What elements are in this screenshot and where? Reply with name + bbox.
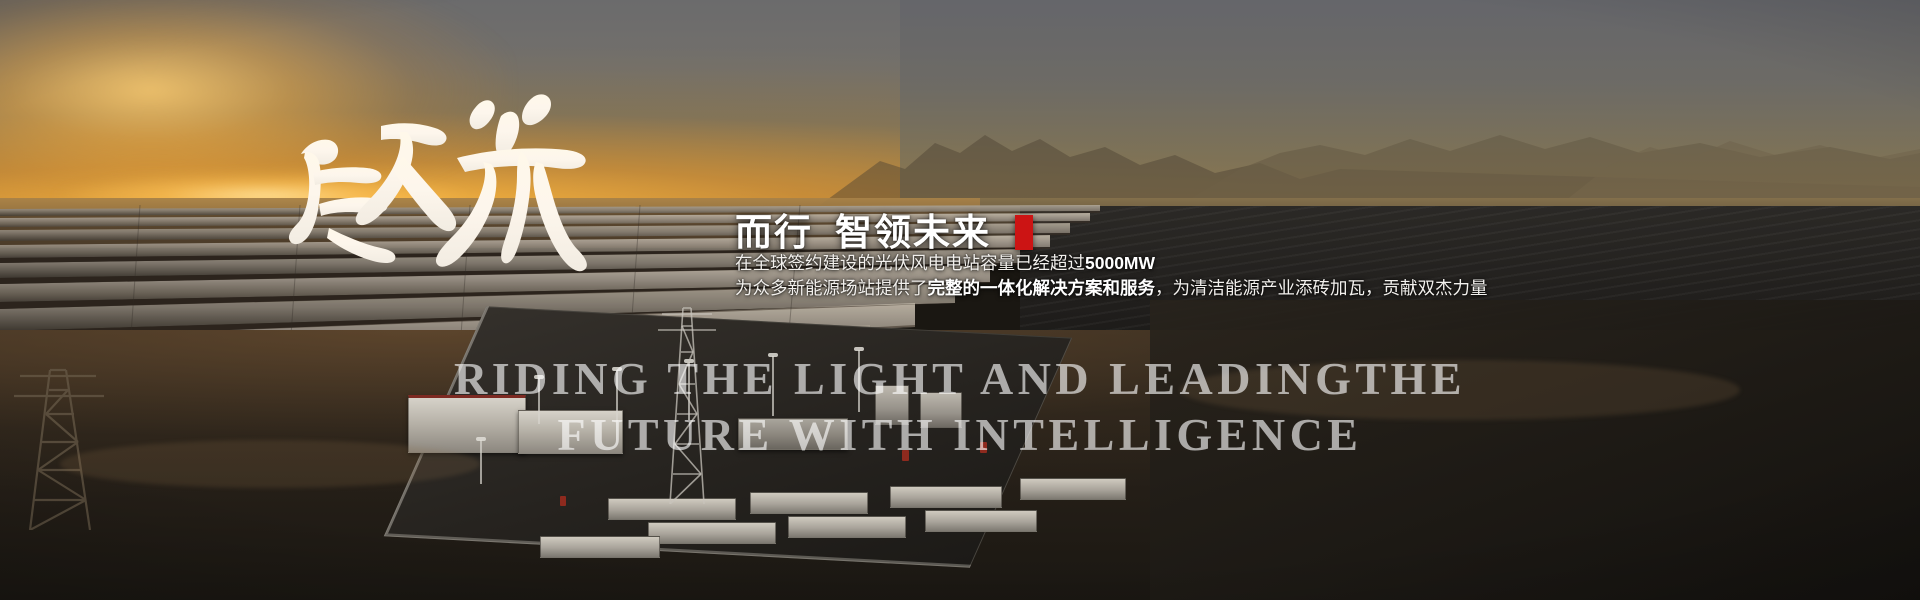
hero-banner: 而行 智领未来 在全球签约建设的光伏风电电站容量已经超过5000MW 为众多新能…	[0, 0, 1920, 600]
control-building	[408, 395, 526, 453]
yard-light-5	[858, 350, 860, 412]
battery-container-2	[648, 522, 776, 544]
red-accent-block	[1015, 215, 1033, 250]
warning-marker-3	[560, 496, 566, 506]
warning-marker-2	[980, 442, 987, 453]
subline-2-tail: ，为清洁能源产业添砖加瓦，贡献双杰力量	[1155, 278, 1488, 298]
hero-copy: 而行 智领未来 在全球签约建设的光伏风电电站容量已经超过5000MW 为众多新能…	[735, 214, 1635, 301]
subline-1-strong: 5000MW	[1085, 253, 1155, 273]
transmission-tower-left	[0, 330, 120, 530]
subline-2: 为众多新能源场站提供了完整的一体化解决方案和服务，为清洁能源产业添砖加瓦，贡献双…	[735, 276, 1635, 301]
subline-2-strong: 完整的一体化解决方案和服务	[928, 278, 1156, 298]
dirt-track-2	[1180, 360, 1740, 420]
ground-shadow-right	[1150, 300, 1920, 600]
yard-light-1	[538, 378, 540, 424]
dirt-track-1	[60, 440, 480, 488]
headline: 而行 智领未来	[735, 214, 1635, 251]
headline-part-1: 而行	[735, 214, 813, 251]
yard-light-2	[616, 370, 618, 422]
yard-light-6	[480, 440, 482, 484]
warning-marker-1	[902, 450, 909, 461]
battery-container-8	[540, 536, 660, 558]
battery-container-3	[750, 492, 868, 514]
battery-container-4	[788, 516, 906, 538]
transformer-unit-2	[920, 392, 962, 428]
transformer-unit-1	[875, 385, 909, 425]
battery-container-7	[1020, 478, 1126, 500]
substation-pylon	[652, 294, 722, 504]
mountain-range-silhouette	[0, 95, 1920, 205]
subline-2-lead: 为众多新能源场站提供了	[735, 278, 928, 298]
headline-part-2: 智领未来	[835, 214, 991, 251]
annex-building	[518, 410, 623, 454]
equipment-shed	[738, 418, 848, 450]
substation-complex	[420, 300, 1100, 570]
battery-container-6	[925, 510, 1037, 532]
subline-1-lead: 在全球签约建设的光伏风电电站容量已经超过	[735, 253, 1085, 273]
subline-1: 在全球签约建设的光伏风电电站容量已经超过5000MW	[735, 251, 1635, 276]
yard-light-4	[772, 356, 774, 416]
battery-container-5	[890, 486, 1002, 508]
